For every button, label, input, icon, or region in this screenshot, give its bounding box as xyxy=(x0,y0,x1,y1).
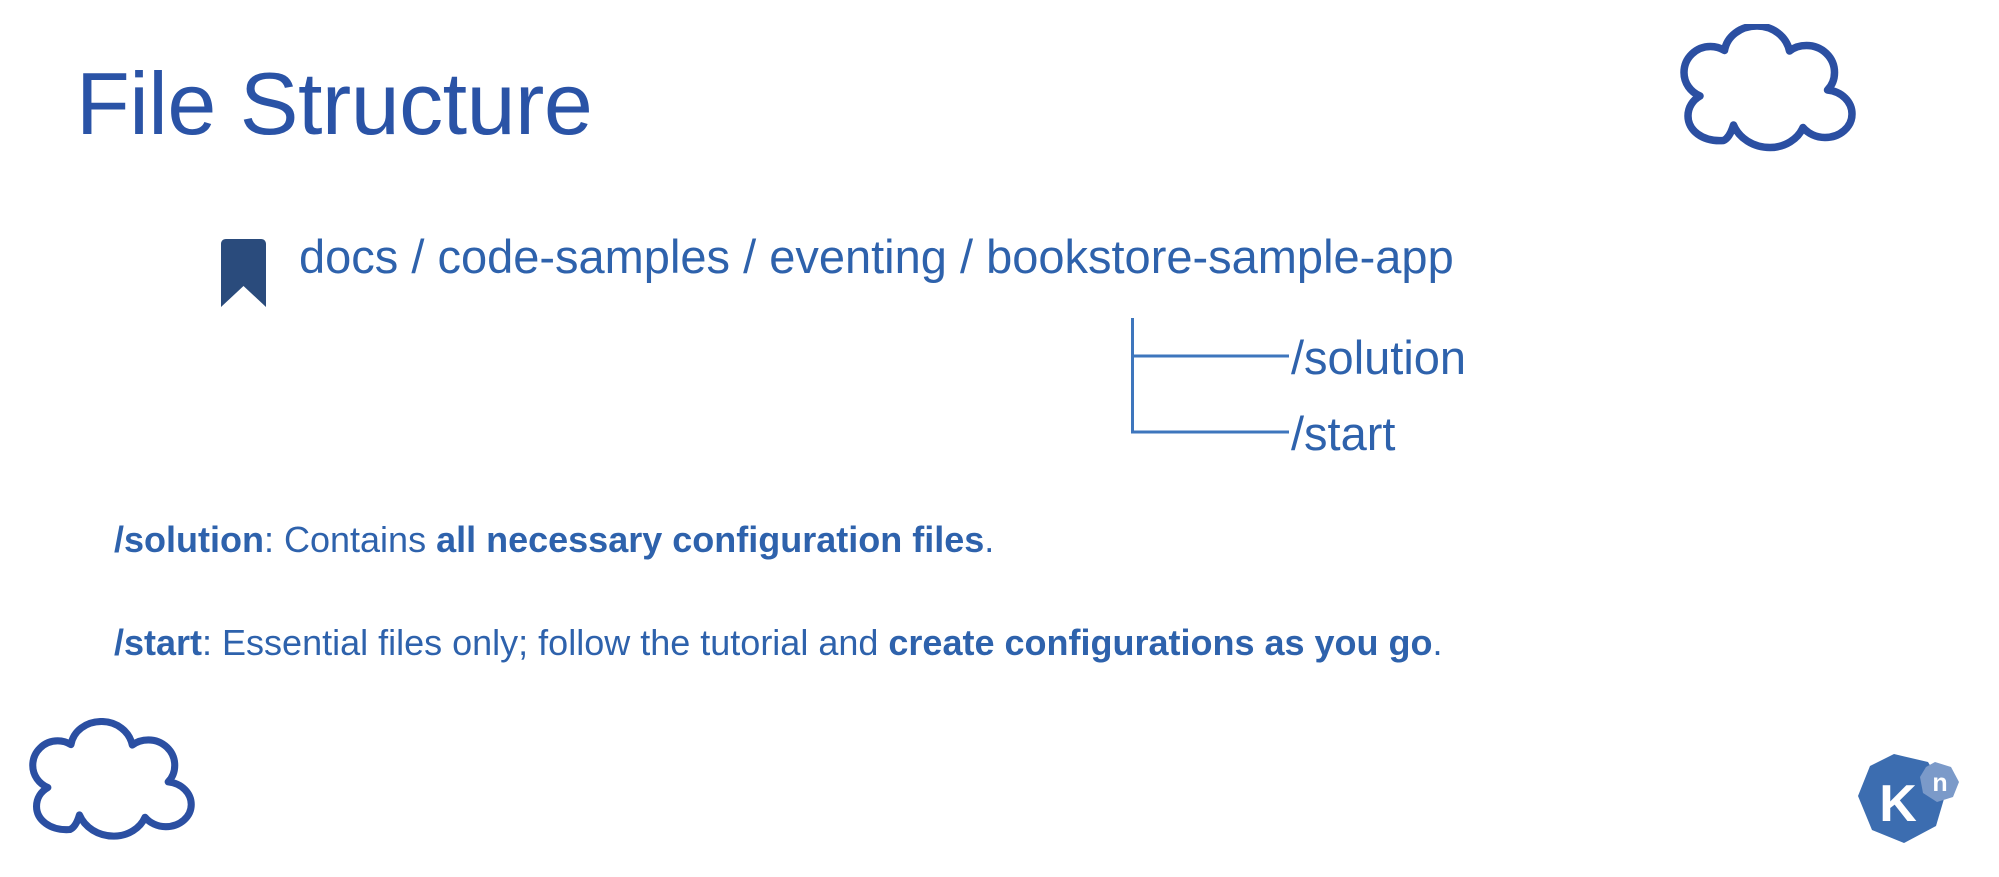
knative-logo-letter: K xyxy=(1879,775,1917,833)
tree-item-label: /solution xyxy=(1291,334,1466,381)
body-line-start: /start: Essential files only; follow the… xyxy=(114,625,1944,661)
page-title: File Structure xyxy=(76,58,592,150)
body-text-block: /solution: Contains all necessary config… xyxy=(114,522,1944,661)
knative-badge-letter: n xyxy=(1932,769,1947,797)
tree-connector-elbow-icon xyxy=(1131,394,1289,470)
tree-row: /solution xyxy=(1131,318,1466,394)
cloud-icon-top-right xyxy=(1662,24,1874,157)
body-line-solution-emphasis: all necessary configuration files xyxy=(436,519,984,560)
breadcrumb: docs / code-samples / eventing / booksto… xyxy=(216,233,1454,313)
body-line-start-lead: : Essential files only; follow the tutor… xyxy=(202,622,888,663)
tree-row: /start xyxy=(1131,394,1466,470)
bookmark-icon xyxy=(216,238,271,313)
breadcrumb-path-text: docs / code-samples / eventing / booksto… xyxy=(299,233,1454,280)
body-line-solution-period: . xyxy=(984,519,994,560)
tree-connector-tee-icon xyxy=(1131,318,1289,394)
body-line-start-period: . xyxy=(1433,622,1443,663)
slide-root: File Structure docs / code-samples / eve… xyxy=(0,0,1999,877)
file-tree: /solution /start xyxy=(1131,318,1466,470)
tree-item-label: /start xyxy=(1291,410,1395,457)
body-line-start-emphasis: create configurations as you go xyxy=(888,622,1432,663)
knative-logo: K n xyxy=(1846,748,1966,865)
body-line-solution-lead: : Contains xyxy=(264,519,436,560)
cloud-icon-bottom-left xyxy=(12,718,212,847)
body-line-start-term: /start xyxy=(114,622,202,663)
body-line-solution-term: /solution xyxy=(114,519,264,560)
body-line-solution: /solution: Contains all necessary config… xyxy=(114,522,1944,558)
